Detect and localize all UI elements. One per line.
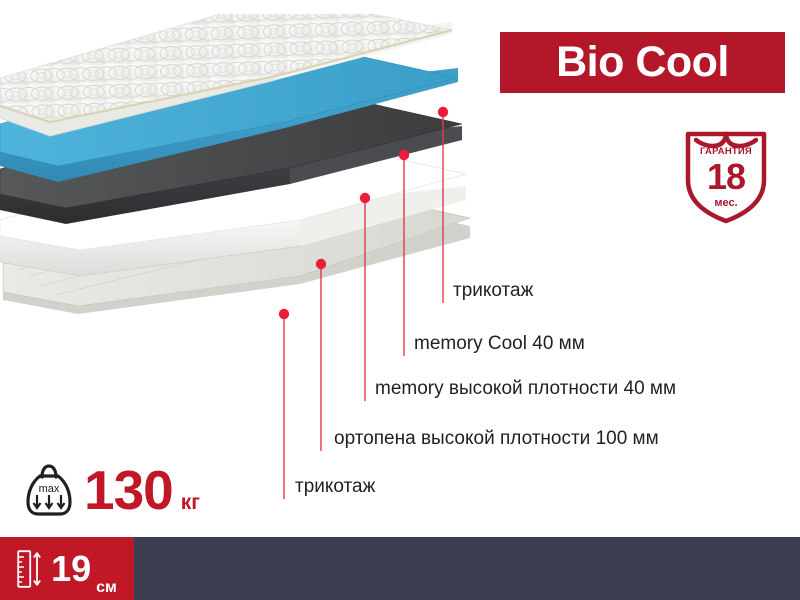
ruler-icon xyxy=(17,550,43,588)
callout-label-3: ортопена высокой плотности 100 мм xyxy=(334,429,659,448)
height-unit: см xyxy=(96,580,117,596)
product-infographic: трикотаж memory Cool 40 мм memory высоко… xyxy=(0,0,800,600)
max-weight-block: max 130 кг xyxy=(26,462,200,518)
callout-label-2: memory высокой плотности 40 мм xyxy=(375,379,676,398)
bottom-spec-bar: 19 см мягкий жесткий xyxy=(0,537,800,600)
warranty-unit: мес. xyxy=(683,198,769,209)
callout-label-1: memory Cool 40 мм xyxy=(414,334,585,353)
kettlebell-max-icon: max xyxy=(26,462,72,518)
mattress-layers-illustration xyxy=(0,14,500,344)
brand-title: Bio Cool xyxy=(556,41,729,84)
height-block: 19 см xyxy=(0,537,134,600)
max-weight-value: 130 xyxy=(84,463,173,518)
callout-label-0: трикотаж xyxy=(453,281,533,300)
callout-label-4: трикотаж xyxy=(295,477,375,496)
max-weight-unit: кг xyxy=(181,492,200,513)
brand-plate: Bio Cool xyxy=(500,32,785,93)
svg-text:max: max xyxy=(39,483,60,495)
warranty-number: 18 xyxy=(683,159,769,195)
height-value: 19 xyxy=(51,551,91,587)
warranty-badge: ГАРАНТИЯ 18 мес. xyxy=(683,128,769,226)
